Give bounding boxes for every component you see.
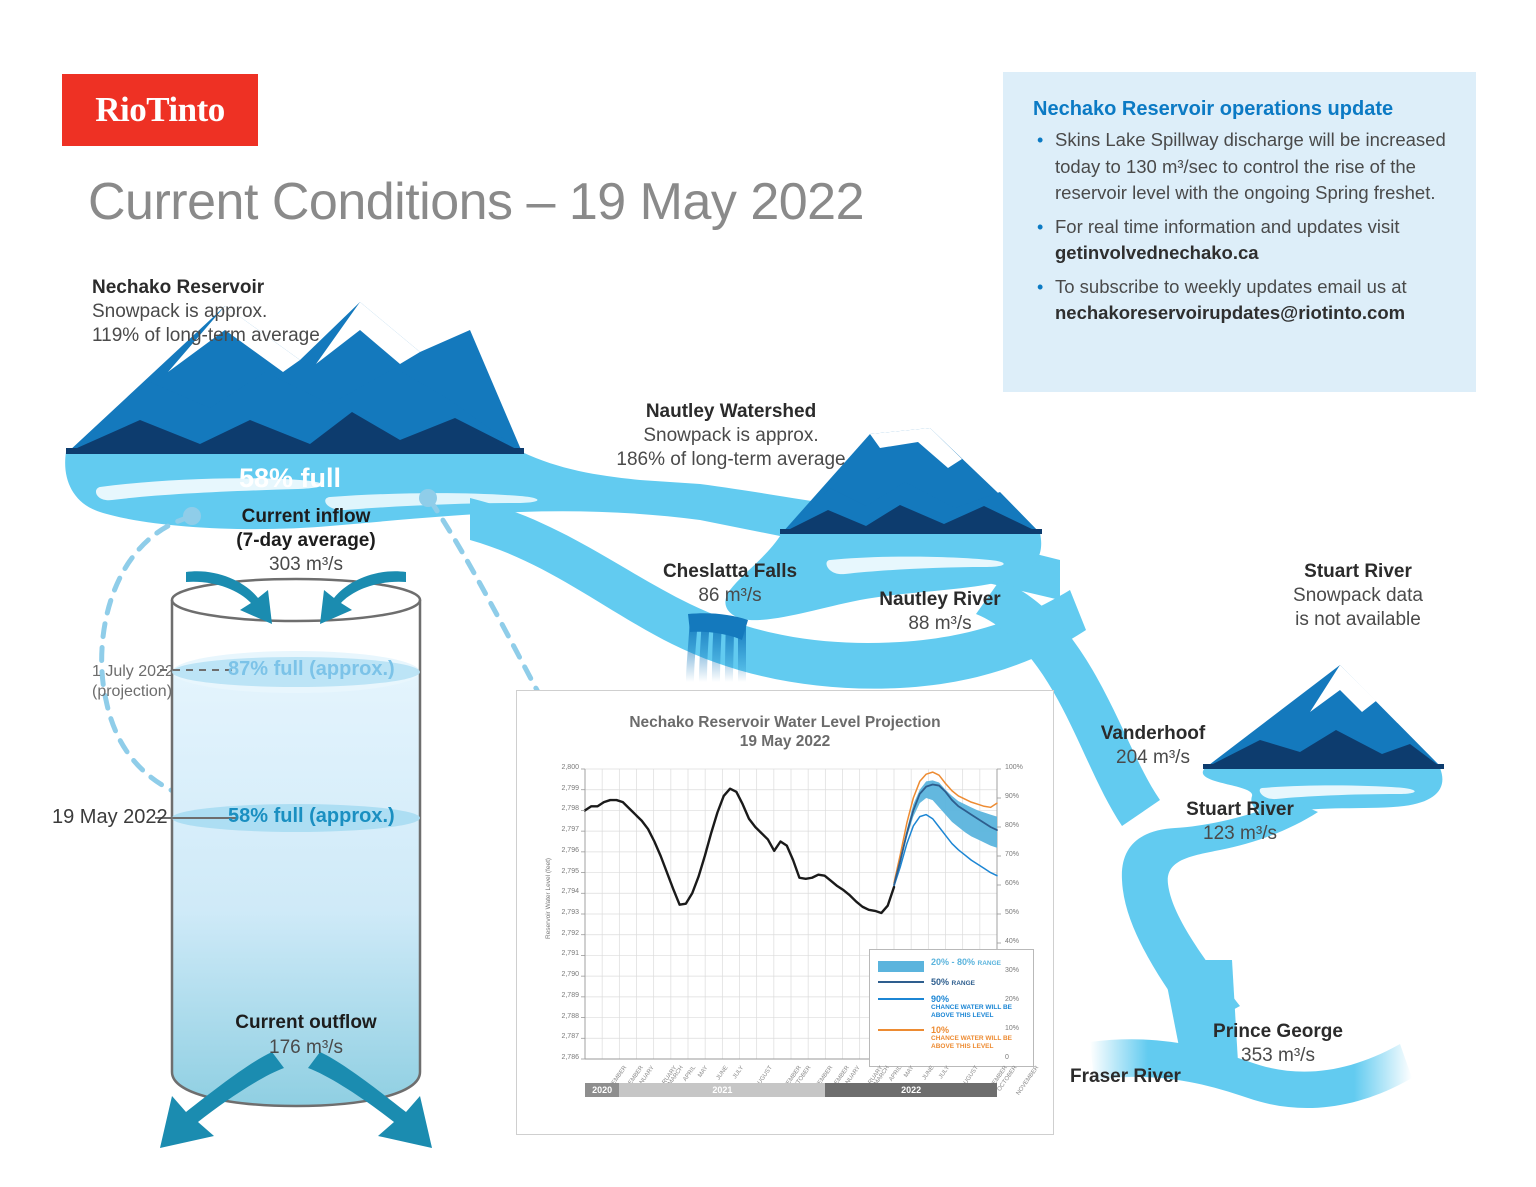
stuart-mountain-line1: Snowpack data — [1293, 585, 1423, 606]
legend-sublabel: CHANCE WATER WILL BE ABOVE THIS LEVEL — [931, 1004, 1025, 1020]
inflow-value: 303 m³/s — [269, 554, 343, 575]
outflow-value: 176 m³/s — [269, 1037, 343, 1058]
nautley-watershed-line1: Snowpack is approx. — [643, 425, 818, 446]
nautley-river-title: Nautley River — [840, 588, 1040, 612]
bullet-icon: • — [1037, 274, 1043, 301]
bullet-icon: • — [1037, 127, 1043, 154]
legend-row: 10%CHANCE WATER WILL BE ABOVE THIS LEVEL — [878, 1025, 1025, 1051]
update-bullet-text: Skins Lake Spillway discharge will be in… — [1055, 129, 1446, 203]
nechako-reservoir-label: Nechako Reservoir Snowpack is approx. 11… — [92, 276, 320, 348]
chart-y-tick: 2,792 — [545, 930, 579, 937]
chart-y-tick: 2,794 — [545, 888, 579, 895]
prince-george-value: 353 m³/s — [1241, 1045, 1315, 1066]
chart-y-tick: 2,799 — [545, 785, 579, 792]
legend-row: 90%CHANCE WATER WILL BE ABOVE THIS LEVEL — [878, 994, 1025, 1020]
nautley-river-value: 88 m³/s — [908, 613, 971, 634]
chart-y-tick: 2,789 — [545, 992, 579, 999]
chart-year-band: 2021 — [619, 1083, 825, 1097]
logo-text: RioTinto — [95, 90, 225, 130]
chart-y2-tick: 0 — [1005, 1054, 1009, 1061]
stuart-river-title: Stuart River — [1140, 798, 1340, 822]
bullet-icon: • — [1037, 214, 1043, 241]
update-bullet-text: To subscribe to weekly updates email us … — [1055, 276, 1407, 297]
stuart-river-label: Stuart River 123 m³/s — [1140, 798, 1340, 846]
chart-y-tick: 2,800 — [545, 764, 579, 771]
nautley-watershed-label: Nautley Watershed Snowpack is approx. 18… — [606, 400, 856, 472]
legend-sublabel: CHANCE WATER WILL BE ABOVE THIS LEVEL — [931, 1035, 1025, 1051]
projection-date: 1 July 2022 — [92, 663, 174, 680]
legend-row: 20% - 80% RANGE — [878, 957, 1025, 972]
current-date-label: 19 May 2022 — [52, 806, 168, 829]
current-level-value: 58% full (approx.) — [228, 805, 395, 828]
legend-swatch — [878, 998, 924, 1000]
current-inflow-label: Current inflow (7-day average) 303 m³/s — [206, 505, 406, 577]
operations-update-heading: Nechako Reservoir operations update — [1033, 98, 1446, 121]
chart-year-band: 2020 — [585, 1083, 619, 1097]
chart-y2-tick: 80% — [1005, 822, 1019, 829]
vanderhoof-value: 204 m³/s — [1116, 747, 1190, 768]
chart-y2-tick: 40% — [1005, 938, 1019, 945]
projection-date-label: 1 July 2022 (projection) — [92, 662, 174, 702]
nechako-title: Nechako Reservoir — [92, 276, 320, 300]
nechako-line2: 119% of long-term average — [92, 325, 320, 346]
stuart-mountain-line2: is not available — [1295, 609, 1421, 630]
stuart-mountain-label: Stuart River Snowpack data is not availa… — [1248, 560, 1468, 632]
update-bullet-website: • For real time information and updates … — [1033, 214, 1446, 267]
chart-year-band: 2022 — [825, 1083, 997, 1097]
chart-y-tick: 2,790 — [545, 971, 579, 978]
cheslatta-falls-label: Cheslatta Falls 86 m³/s — [620, 560, 840, 608]
fraser-river-label: Fraser River — [1070, 1065, 1181, 1089]
water-level-projection-chart: Nechako Reservoir Water Level Projection… — [516, 690, 1054, 1135]
chart-y2-tick: 30% — [1005, 967, 1019, 974]
leader-dot — [419, 489, 437, 507]
projection-note: (projection) — [92, 683, 172, 700]
nechako-line1: Snowpack is approx. — [92, 301, 267, 322]
legend-text: 50% RANGE — [931, 977, 975, 989]
outflow-title: Current outflow — [200, 1010, 412, 1035]
nautley-watershed-title: Nautley Watershed — [606, 400, 856, 424]
legend-row: 50% RANGE — [878, 977, 1025, 989]
vanderhoof-label: Vanderhoof 204 m³/s — [1058, 722, 1248, 770]
update-bullet-text: For real time information and updates vi… — [1055, 216, 1399, 237]
chart-y-tick: 2,797 — [545, 826, 579, 833]
inflow-subtitle: (7-day average) — [206, 529, 406, 553]
legend-swatch — [878, 961, 924, 972]
chart-y2-tick: 10% — [1005, 1025, 1019, 1032]
page-title: Current Conditions – 19 May 2022 — [88, 172, 864, 232]
legend-text: 20% - 80% RANGE — [931, 957, 1001, 969]
stuart-river-value: 123 m³/s — [1203, 823, 1277, 844]
legend-label: 50% RANGE — [931, 977, 975, 989]
chart-y-tick: 2,796 — [545, 847, 579, 854]
legend-label: 20% - 80% RANGE — [931, 957, 1001, 969]
current-outflow-label: Current outflow 176 m³/s — [200, 1010, 412, 1060]
nautley-watershed-line2: 186% of long-term average — [616, 449, 845, 470]
stuart-mountain-title: Stuart River — [1248, 560, 1468, 584]
chart-y-tick: 2,786 — [545, 1054, 579, 1061]
chart-y2-tick: 90% — [1005, 793, 1019, 800]
legend-swatch — [878, 1029, 924, 1031]
prince-george-label: Prince George 353 m³/s — [1178, 1020, 1378, 1068]
website-link[interactable]: getinvolvednechako.ca — [1055, 242, 1259, 263]
cheslatta-value: 86 m³/s — [698, 585, 761, 606]
vanderhoof-title: Vanderhoof — [1058, 722, 1248, 746]
cheslatta-title: Cheslatta Falls — [620, 560, 840, 584]
chart-y-tick: 2,791 — [545, 950, 579, 957]
legend-swatch — [878, 981, 924, 983]
chart-y-tick: 2,793 — [545, 909, 579, 916]
chart-y-tick: 2,787 — [545, 1033, 579, 1040]
update-bullet-spillway: • Skins Lake Spillway discharge will be … — [1033, 127, 1446, 207]
cheslatta-falls-icon — [686, 613, 748, 682]
email-link[interactable]: nechakoreservoirupdates@riotinto.com — [1055, 302, 1405, 323]
chart-y2-tick: 100% — [1005, 764, 1023, 771]
prince-george-title: Prince George — [1178, 1020, 1378, 1044]
riotinto-logo: RioTinto — [62, 74, 258, 146]
leader-dot — [183, 507, 201, 525]
chart-y2-tick: 20% — [1005, 996, 1019, 1003]
chart-y2-tick: 70% — [1005, 851, 1019, 858]
chart-y-tick: 2,795 — [545, 868, 579, 875]
nechako-percent-full: 58% full — [160, 463, 420, 494]
chart-y2-tick: 50% — [1005, 909, 1019, 916]
operations-update-list: • Skins Lake Spillway discharge will be … — [1033, 127, 1446, 327]
chart-y-tick: 2,788 — [545, 1013, 579, 1020]
update-bullet-email: • To subscribe to weekly updates email u… — [1033, 274, 1446, 327]
inflow-title: Current inflow — [206, 505, 406, 529]
operations-update-panel: Nechako Reservoir operations update • Sk… — [1003, 72, 1476, 392]
projection-level-value: 87% full (approx.) — [228, 658, 395, 681]
nautley-river-label: Nautley River 88 m³/s — [840, 588, 1040, 636]
chart-y2-tick: 60% — [1005, 880, 1019, 887]
chart-y-tick: 2,798 — [545, 805, 579, 812]
